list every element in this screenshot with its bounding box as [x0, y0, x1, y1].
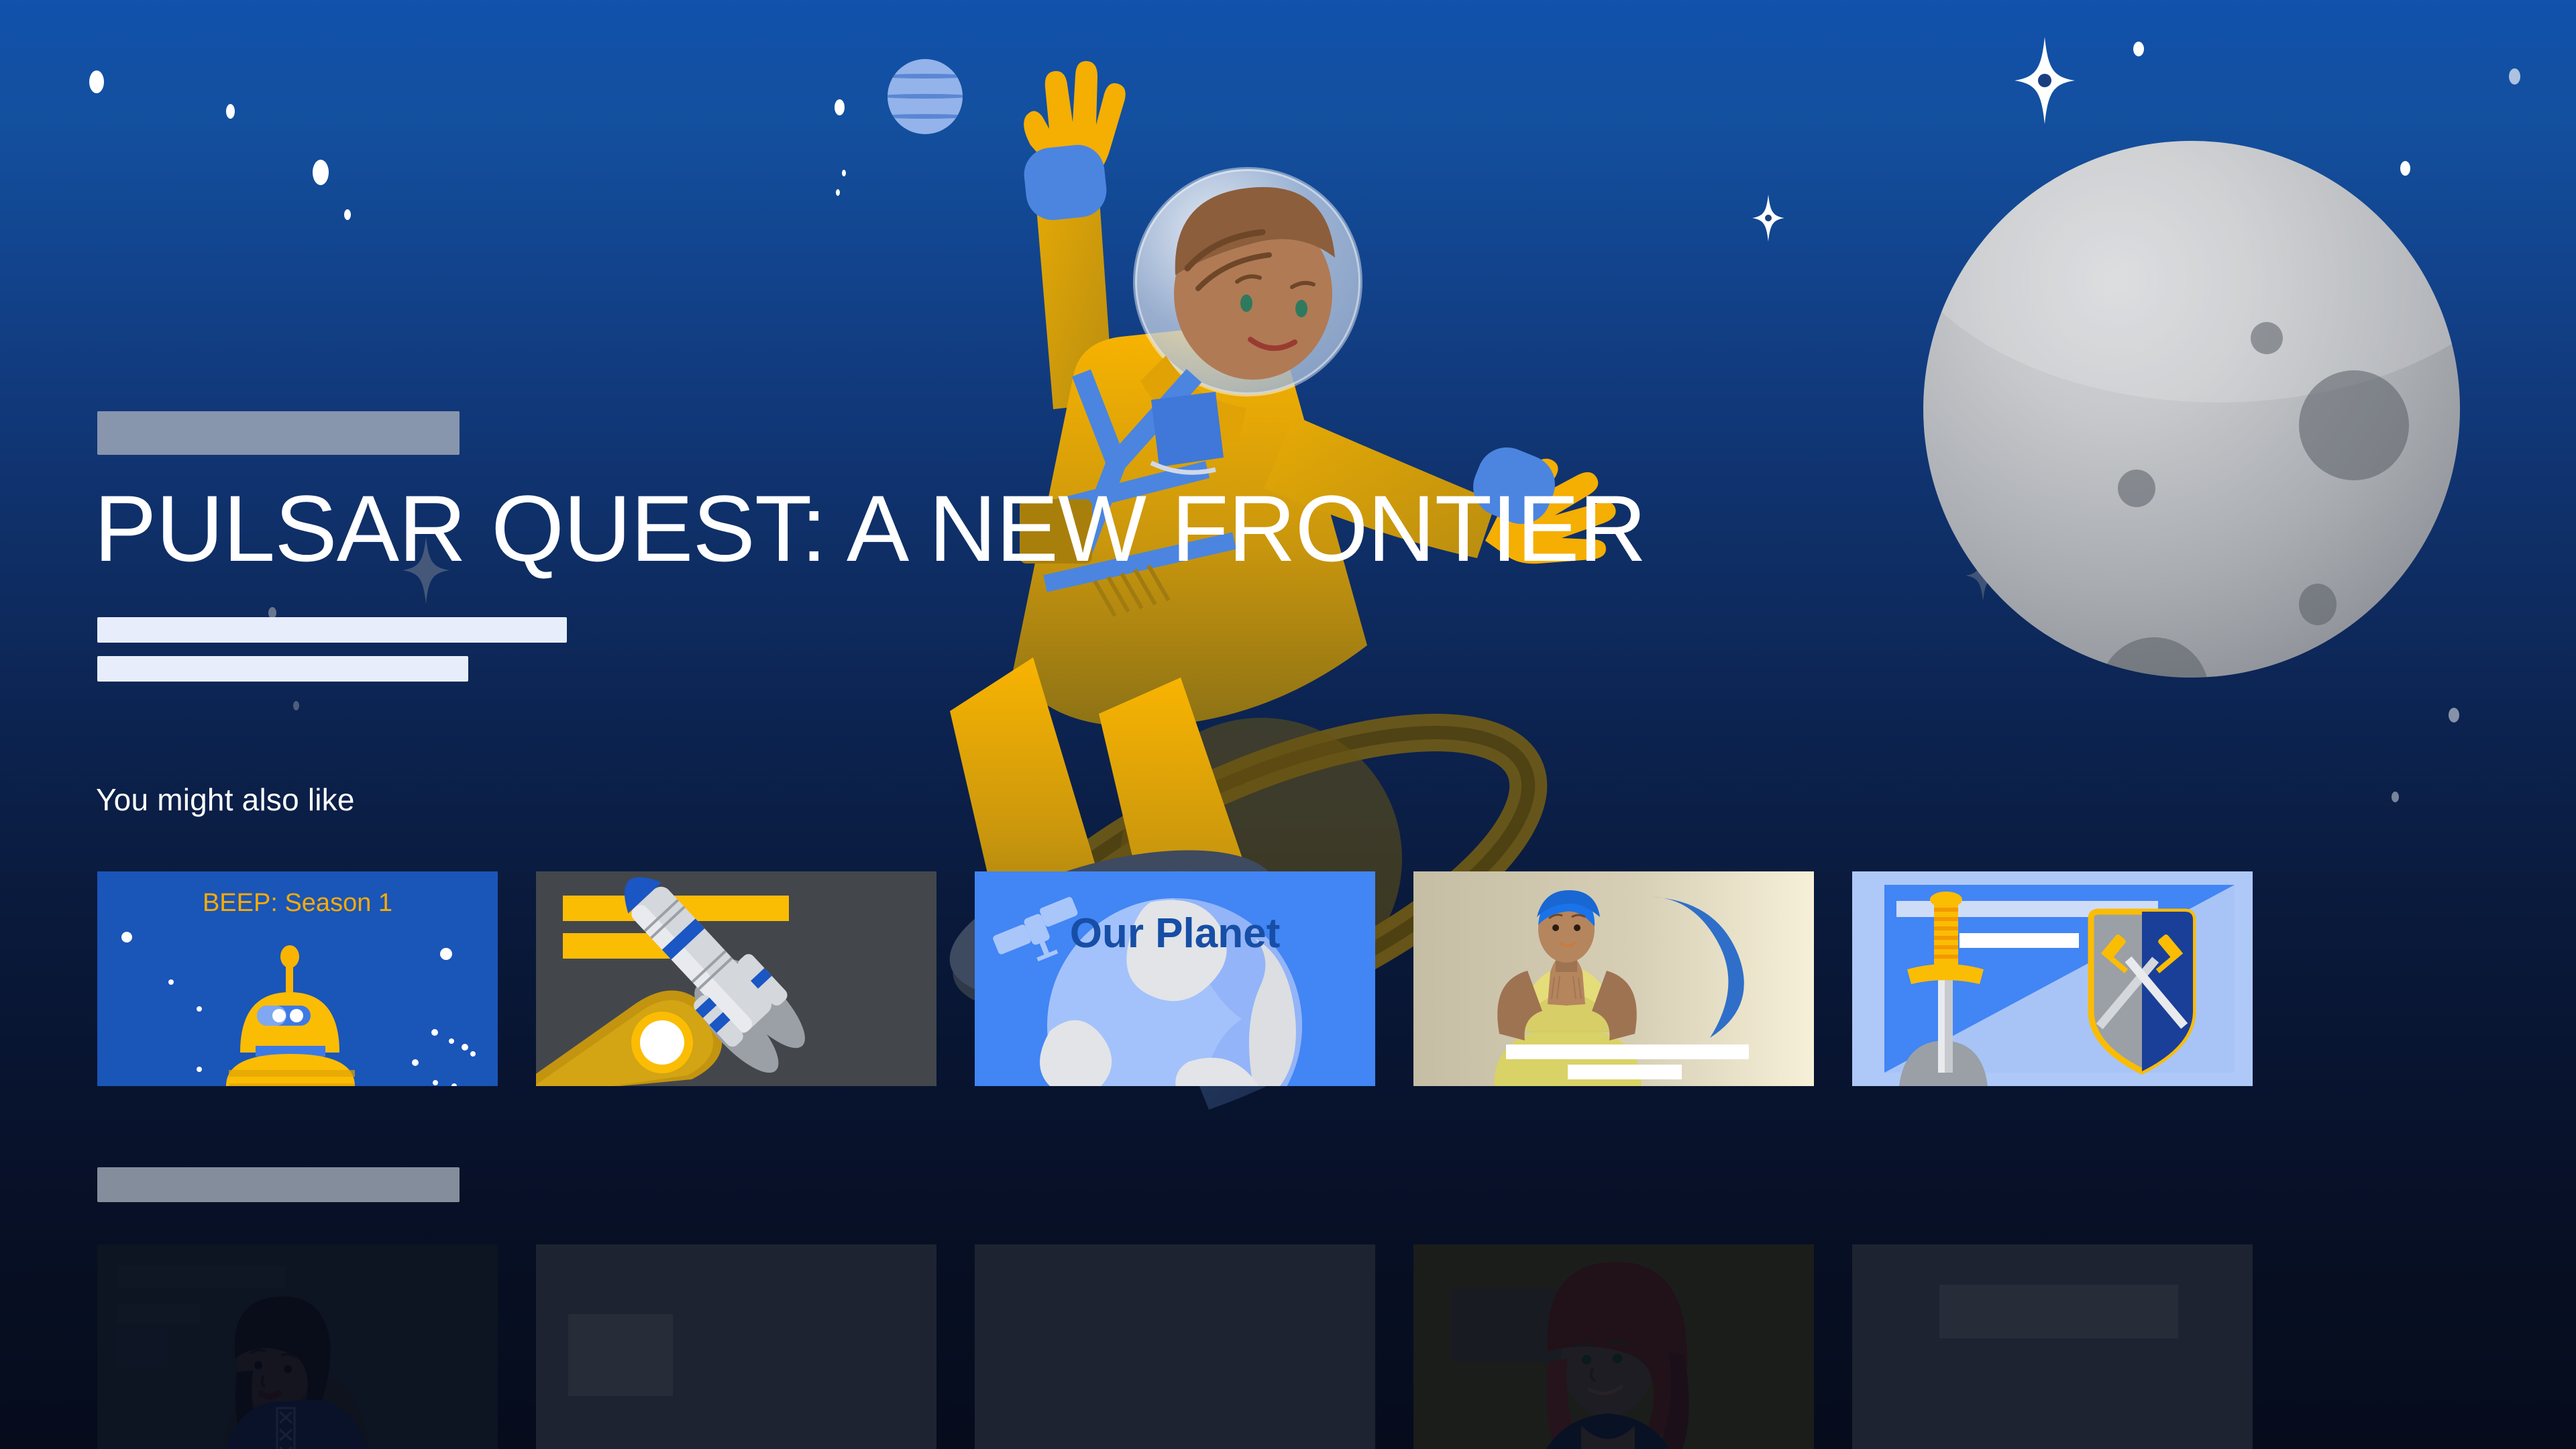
moon-graphic [1923, 141, 2460, 678]
moon-crater [2099, 637, 2209, 678]
star [344, 209, 351, 220]
card-portrait-dark-hair[interactable] [97, 1244, 498, 1449]
empty-placeholder-art [975, 1244, 1375, 1449]
card-beep-season-1[interactable]: BEEP: Season 1 [97, 871, 498, 1086]
card-sword-and-shield[interactable] [1852, 871, 2253, 1086]
star [2509, 68, 2520, 85]
content-block-skeleton [1939, 1285, 2178, 1338]
star [2449, 708, 2459, 722]
hero-subtitle-skeleton-line-2 [97, 656, 468, 682]
card-placeholder-5[interactable] [1852, 1244, 2253, 1449]
rocket-launch-art [536, 871, 936, 1086]
title-bar-skeleton [1506, 1044, 1749, 1059]
subtitle-bar-skeleton [1960, 933, 2079, 948]
woman-with-red-hair-art [1413, 1244, 1814, 1449]
star [89, 70, 104, 93]
section-heading-skeleton-row-2 [97, 1167, 460, 1202]
card-rocket-launch[interactable] [536, 871, 936, 1086]
empty-placeholder-art [1852, 1244, 2253, 1449]
card-placeholder-2[interactable] [536, 1244, 936, 1449]
star [2392, 792, 2399, 802]
sword-in-stone-and-shield-art [1852, 871, 2253, 1086]
empty-placeholder-art [536, 1244, 936, 1449]
card-our-planet[interactable]: Our Planet [975, 871, 1375, 1086]
content-block-skeleton [568, 1314, 673, 1396]
card-title-our-planet: Our Planet [975, 912, 1375, 955]
star [226, 104, 235, 119]
page-title: PULSAR QUEST: A NEW FRONTIER [94, 482, 1945, 576]
star [313, 160, 329, 185]
woman-with-long-dark-hair-art [97, 1244, 498, 1449]
hero-eyebrow-skeleton [97, 411, 460, 455]
card-portrait-red-hair[interactable] [1413, 1244, 1814, 1449]
card-title-beep: BEEP: Season 1 [97, 889, 498, 918]
recommendations-row-1: BEEP: Season 1 [97, 871, 2253, 1086]
earth-with-satellite-art [975, 871, 1375, 1086]
moon-crater [2118, 470, 2155, 507]
subtitle-bar-skeleton [1568, 1065, 1682, 1079]
page-root: PULSAR QUEST: A NEW FRONTIER You might a… [0, 0, 2576, 1449]
recommendations-row-2 [97, 1244, 2253, 1449]
four-point-sparkle-icon [2015, 37, 2075, 124]
star [2133, 42, 2144, 56]
hero-subtitle-skeleton-line-1 [97, 617, 567, 643]
card-placeholder-3[interactable] [975, 1244, 1375, 1449]
moon-crater [2251, 322, 2283, 354]
person-meditating-with-moon-art [1413, 871, 1814, 1086]
subtitle-bar-skeleton [117, 1303, 201, 1324]
card-meditation[interactable] [1413, 871, 1814, 1086]
section-heading-recommendations: You might also like [96, 782, 355, 818]
star [293, 701, 299, 710]
moon-crater [2299, 370, 2409, 480]
title-bar-skeleton [117, 1266, 285, 1287]
moon-crater [2299, 584, 2337, 625]
